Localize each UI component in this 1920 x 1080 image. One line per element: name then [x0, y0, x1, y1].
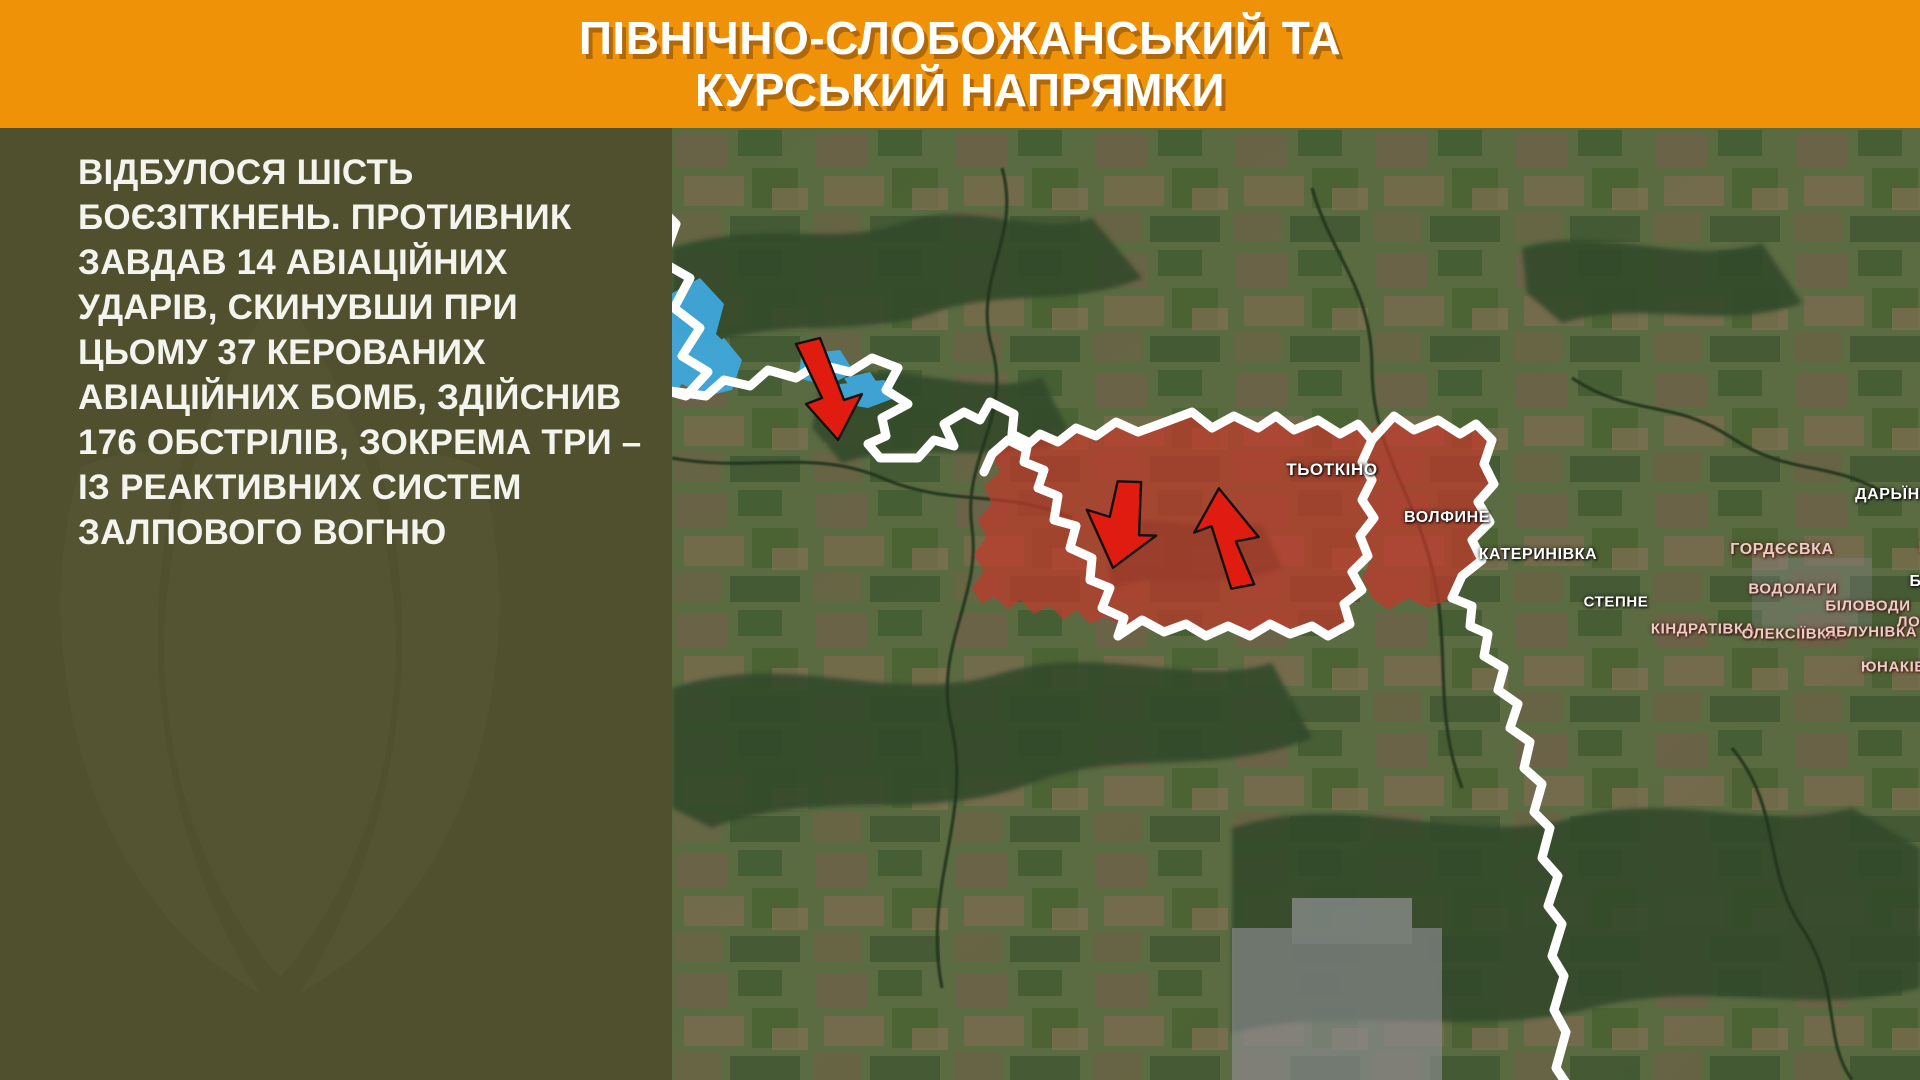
page-title: ПІВНІЧНО-СЛОБОЖАНСЬКИЙ ТА КУРСЬКИЙ НАПРЯ…: [579, 12, 1341, 116]
sidebar-panel: ВІДБУЛОСЯ ШІСТЬ БОЄЗІТКНЕНЬ. ПРОТИВНИК З…: [0, 128, 672, 1080]
map-canvas[interactable]: ТЬОТКІНОВОЛФИНЕКАТЕРИНІВКАСТЕПНЕКІНДРАТІ…: [672, 128, 1920, 1080]
header-banner: ПІВНІЧНО-СЛОБОЖАНСЬКИЙ ТА КУРСЬКИЙ НАПРЯ…: [0, 0, 1920, 128]
infographic-root: ПІВНІЧНО-СЛОБОЖАНСЬКИЙ ТА КУРСЬКИЙ НАПРЯ…: [0, 0, 1920, 1080]
sidebar-body-text: ВІДБУЛОСЯ ШІСТЬ БОЄЗІТКНЕНЬ. ПРОТИВНИК З…: [78, 150, 654, 555]
map-satellite-imagery: [672, 128, 1920, 1080]
